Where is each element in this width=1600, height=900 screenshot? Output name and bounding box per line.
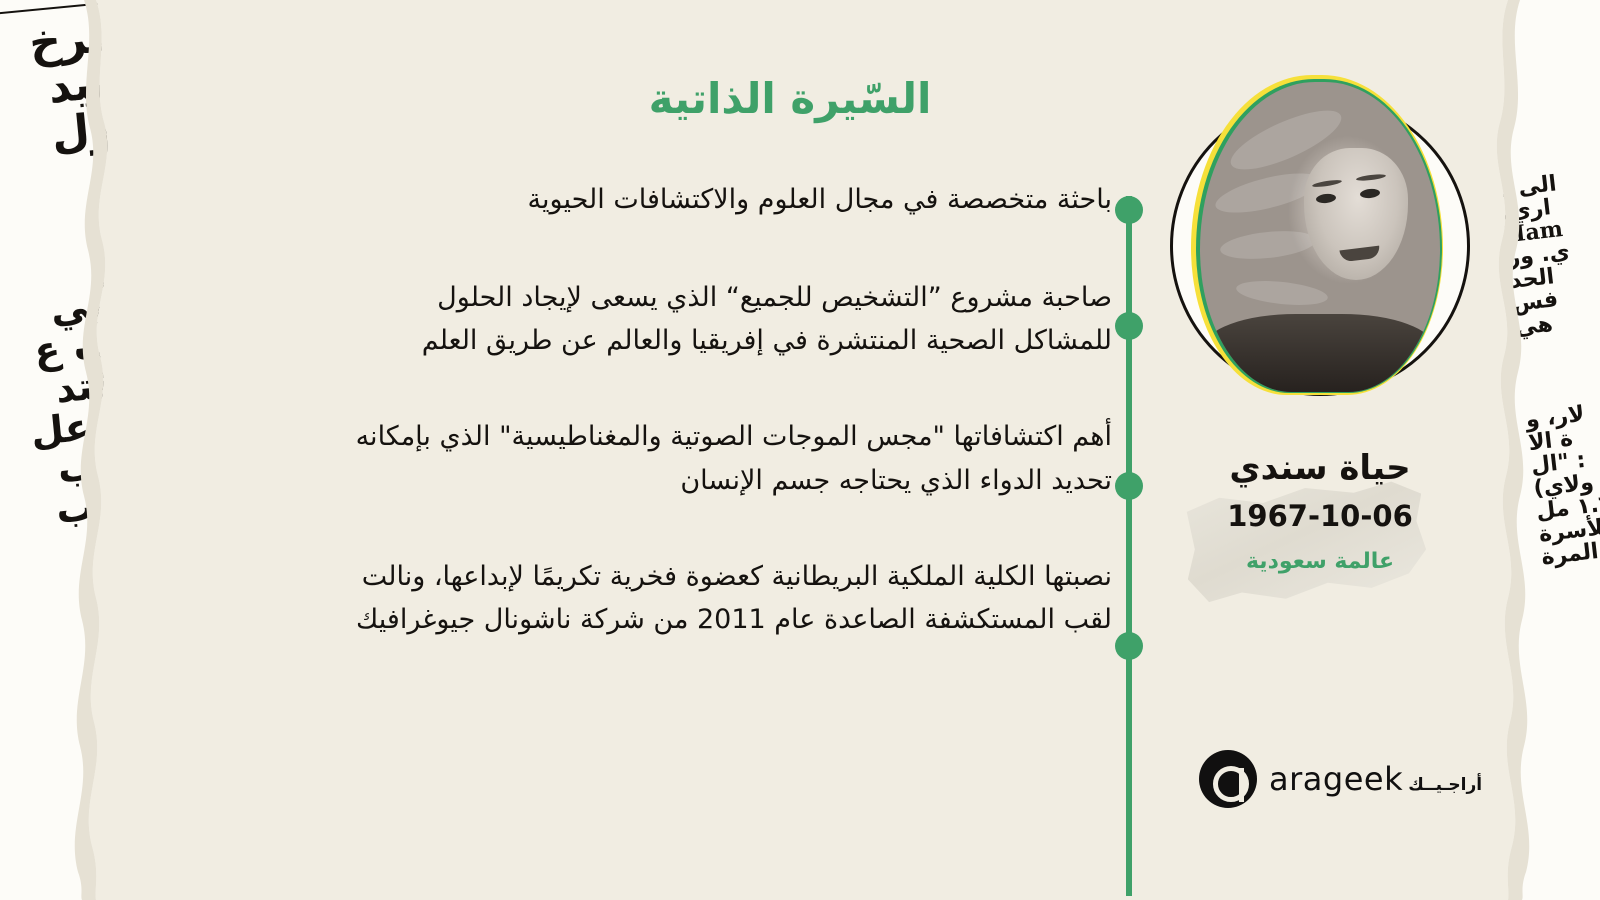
arageek-logo[interactable]: arageek أراجـيــك — [1199, 750, 1482, 808]
timeline-line — [1126, 196, 1132, 896]
page-title: السّيرة الذاتية — [480, 74, 1100, 123]
timeline-dot-2 — [1115, 312, 1143, 340]
identity-block: حياة سندي 1967-10-06 عالمة سعودية — [1155, 448, 1485, 618]
timeline-dot-4 — [1115, 632, 1143, 660]
person-role: عالمة سعودية — [1155, 549, 1485, 574]
timeline-dot-3 — [1115, 472, 1143, 500]
bio-item: باحثة متخصصة في مجال العلوم والاكتشافات … — [332, 178, 1112, 222]
portrait-shoulder — [1204, 314, 1434, 392]
profile-panel: حياة سندي 1967-10-06 عالمة سعودية aragee… — [1155, 90, 1485, 618]
logo-word: arageek — [1269, 760, 1403, 798]
logo-arabic: أراجـيــك — [1408, 775, 1482, 795]
bio-list: باحثة متخصصة في مجال العلوم والاكتشافات … — [332, 178, 1112, 642]
tape-texture — [1181, 476, 1430, 608]
portrait-image — [1200, 82, 1472, 412]
birth-date: 1967-10-06 — [1155, 499, 1485, 533]
avatar — [1170, 96, 1470, 396]
scarf-fold — [1219, 227, 1317, 263]
person-name: حياة سندي — [1155, 448, 1485, 489]
infographic-card: علم و ع صرخ سيد دول للرد خ ٢ دار تصبي رق… — [0, 0, 1600, 900]
portrait-body — [1200, 82, 1440, 392]
torn-edge-left — [62, 0, 142, 900]
bio-item: نصبتها الكلية الملكية البريطانية كعضوة ف… — [332, 555, 1112, 642]
bio-item: أهم اكتشافاتها "مجس الموجات الصوتية والم… — [332, 415, 1112, 502]
scarf-fold — [1235, 277, 1329, 308]
timeline-dot-1 — [1115, 196, 1143, 224]
arageek-mark-icon — [1199, 750, 1257, 808]
bio-item: صاحبة مشروع ”التشخيص للجميع“ الذي يسعى ل… — [332, 276, 1112, 363]
arageek-wordmark: arageek أراجـيــك — [1269, 763, 1482, 795]
